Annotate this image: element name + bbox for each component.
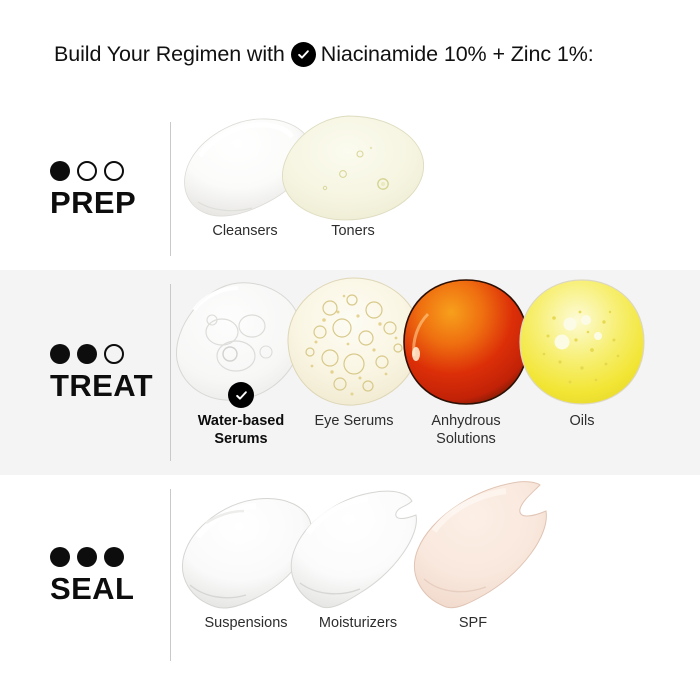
swatch-cleansers-icon bbox=[178, 116, 318, 221]
page-title: Build Your Regimen with Niacinamide 10% … bbox=[54, 42, 594, 67]
progress-dot-filled bbox=[77, 344, 97, 364]
product-item-toners[interactable]: Toners bbox=[298, 223, 408, 241]
product-label: Suspensions bbox=[204, 615, 287, 633]
swatch-art-prep bbox=[170, 108, 700, 270]
page-title-prefix: Build Your Regimen with bbox=[54, 42, 285, 67]
swatch-anhydrous-solutions-icon bbox=[402, 278, 530, 406]
product-item-moisturizers[interactable]: Moisturizers bbox=[294, 615, 422, 633]
progress-dot-empty bbox=[77, 161, 97, 181]
regimen-step-seal: SEAL bbox=[0, 475, 700, 675]
product-label: SPF bbox=[459, 615, 487, 633]
step-progress-dots bbox=[50, 161, 170, 181]
product-label: Toners bbox=[331, 223, 375, 241]
check-circle-icon bbox=[228, 382, 254, 408]
check-circle-icon bbox=[291, 42, 316, 67]
product-item-spf[interactable]: SPF bbox=[428, 615, 518, 633]
product-label: Moisturizers bbox=[319, 615, 397, 633]
product-item-eye-serums[interactable]: Eye Serums bbox=[292, 413, 416, 431]
stage-label: PREP bbox=[50, 187, 170, 218]
progress-dot-empty bbox=[104, 161, 124, 181]
progress-dot-filled bbox=[50, 161, 70, 181]
progress-dot-filled bbox=[50, 344, 70, 364]
product-list-treat: Water-based Serums Eye Serums Anhydrous … bbox=[170, 270, 700, 475]
product-list-prep: Cleansers Toners bbox=[170, 108, 700, 270]
progress-dot-empty bbox=[104, 344, 124, 364]
progress-dot-filled bbox=[50, 547, 70, 567]
product-label: Cleansers bbox=[212, 223, 277, 241]
product-label: Eye Serums bbox=[315, 413, 394, 431]
product-item-oils[interactable]: Oils bbox=[530, 413, 634, 431]
swatch-suspensions-icon bbox=[176, 493, 316, 611]
stage-label: TREAT bbox=[50, 370, 170, 401]
regimen-step-treat: TREAT bbox=[0, 270, 700, 475]
swatch-spf-icon bbox=[400, 479, 555, 611]
swatch-eye-serums-icon bbox=[286, 276, 422, 408]
swatch-oils-icon bbox=[518, 278, 646, 406]
product-label: Anhydrous Solutions bbox=[431, 413, 500, 448]
step-progress-dots bbox=[50, 547, 170, 567]
swatch-toners-icon bbox=[278, 114, 428, 224]
stage-indicator-seal: SEAL bbox=[0, 475, 170, 675]
product-list-seal: Suspensions Moisturizers SPF bbox=[170, 475, 700, 675]
regimen-step-prep: PREP bbox=[0, 108, 700, 270]
product-item-cleansers[interactable]: Cleansers bbox=[190, 223, 300, 241]
stage-indicator-treat: TREAT bbox=[0, 270, 170, 475]
product-item-water-based-serums[interactable]: Water-based Serums bbox=[176, 382, 306, 448]
product-label: Oils bbox=[570, 413, 595, 431]
page-header: Build Your Regimen with Niacinamide 10% … bbox=[0, 0, 700, 108]
product-item-suspensions[interactable]: Suspensions bbox=[180, 615, 312, 633]
swatch-moisturizers-icon bbox=[280, 485, 430, 611]
progress-dot-filled bbox=[77, 547, 97, 567]
step-progress-dots bbox=[50, 344, 170, 364]
progress-dot-filled bbox=[104, 547, 124, 567]
product-item-anhydrous-solutions[interactable]: Anhydrous Solutions bbox=[404, 413, 528, 448]
product-label: Water-based Serums bbox=[198, 413, 284, 448]
swatch-art-seal bbox=[170, 475, 700, 675]
page-title-suffix: Niacinamide 10% + Zinc 1%: bbox=[321, 42, 594, 67]
stage-indicator-prep: PREP bbox=[0, 108, 170, 270]
stage-label: SEAL bbox=[50, 573, 170, 604]
